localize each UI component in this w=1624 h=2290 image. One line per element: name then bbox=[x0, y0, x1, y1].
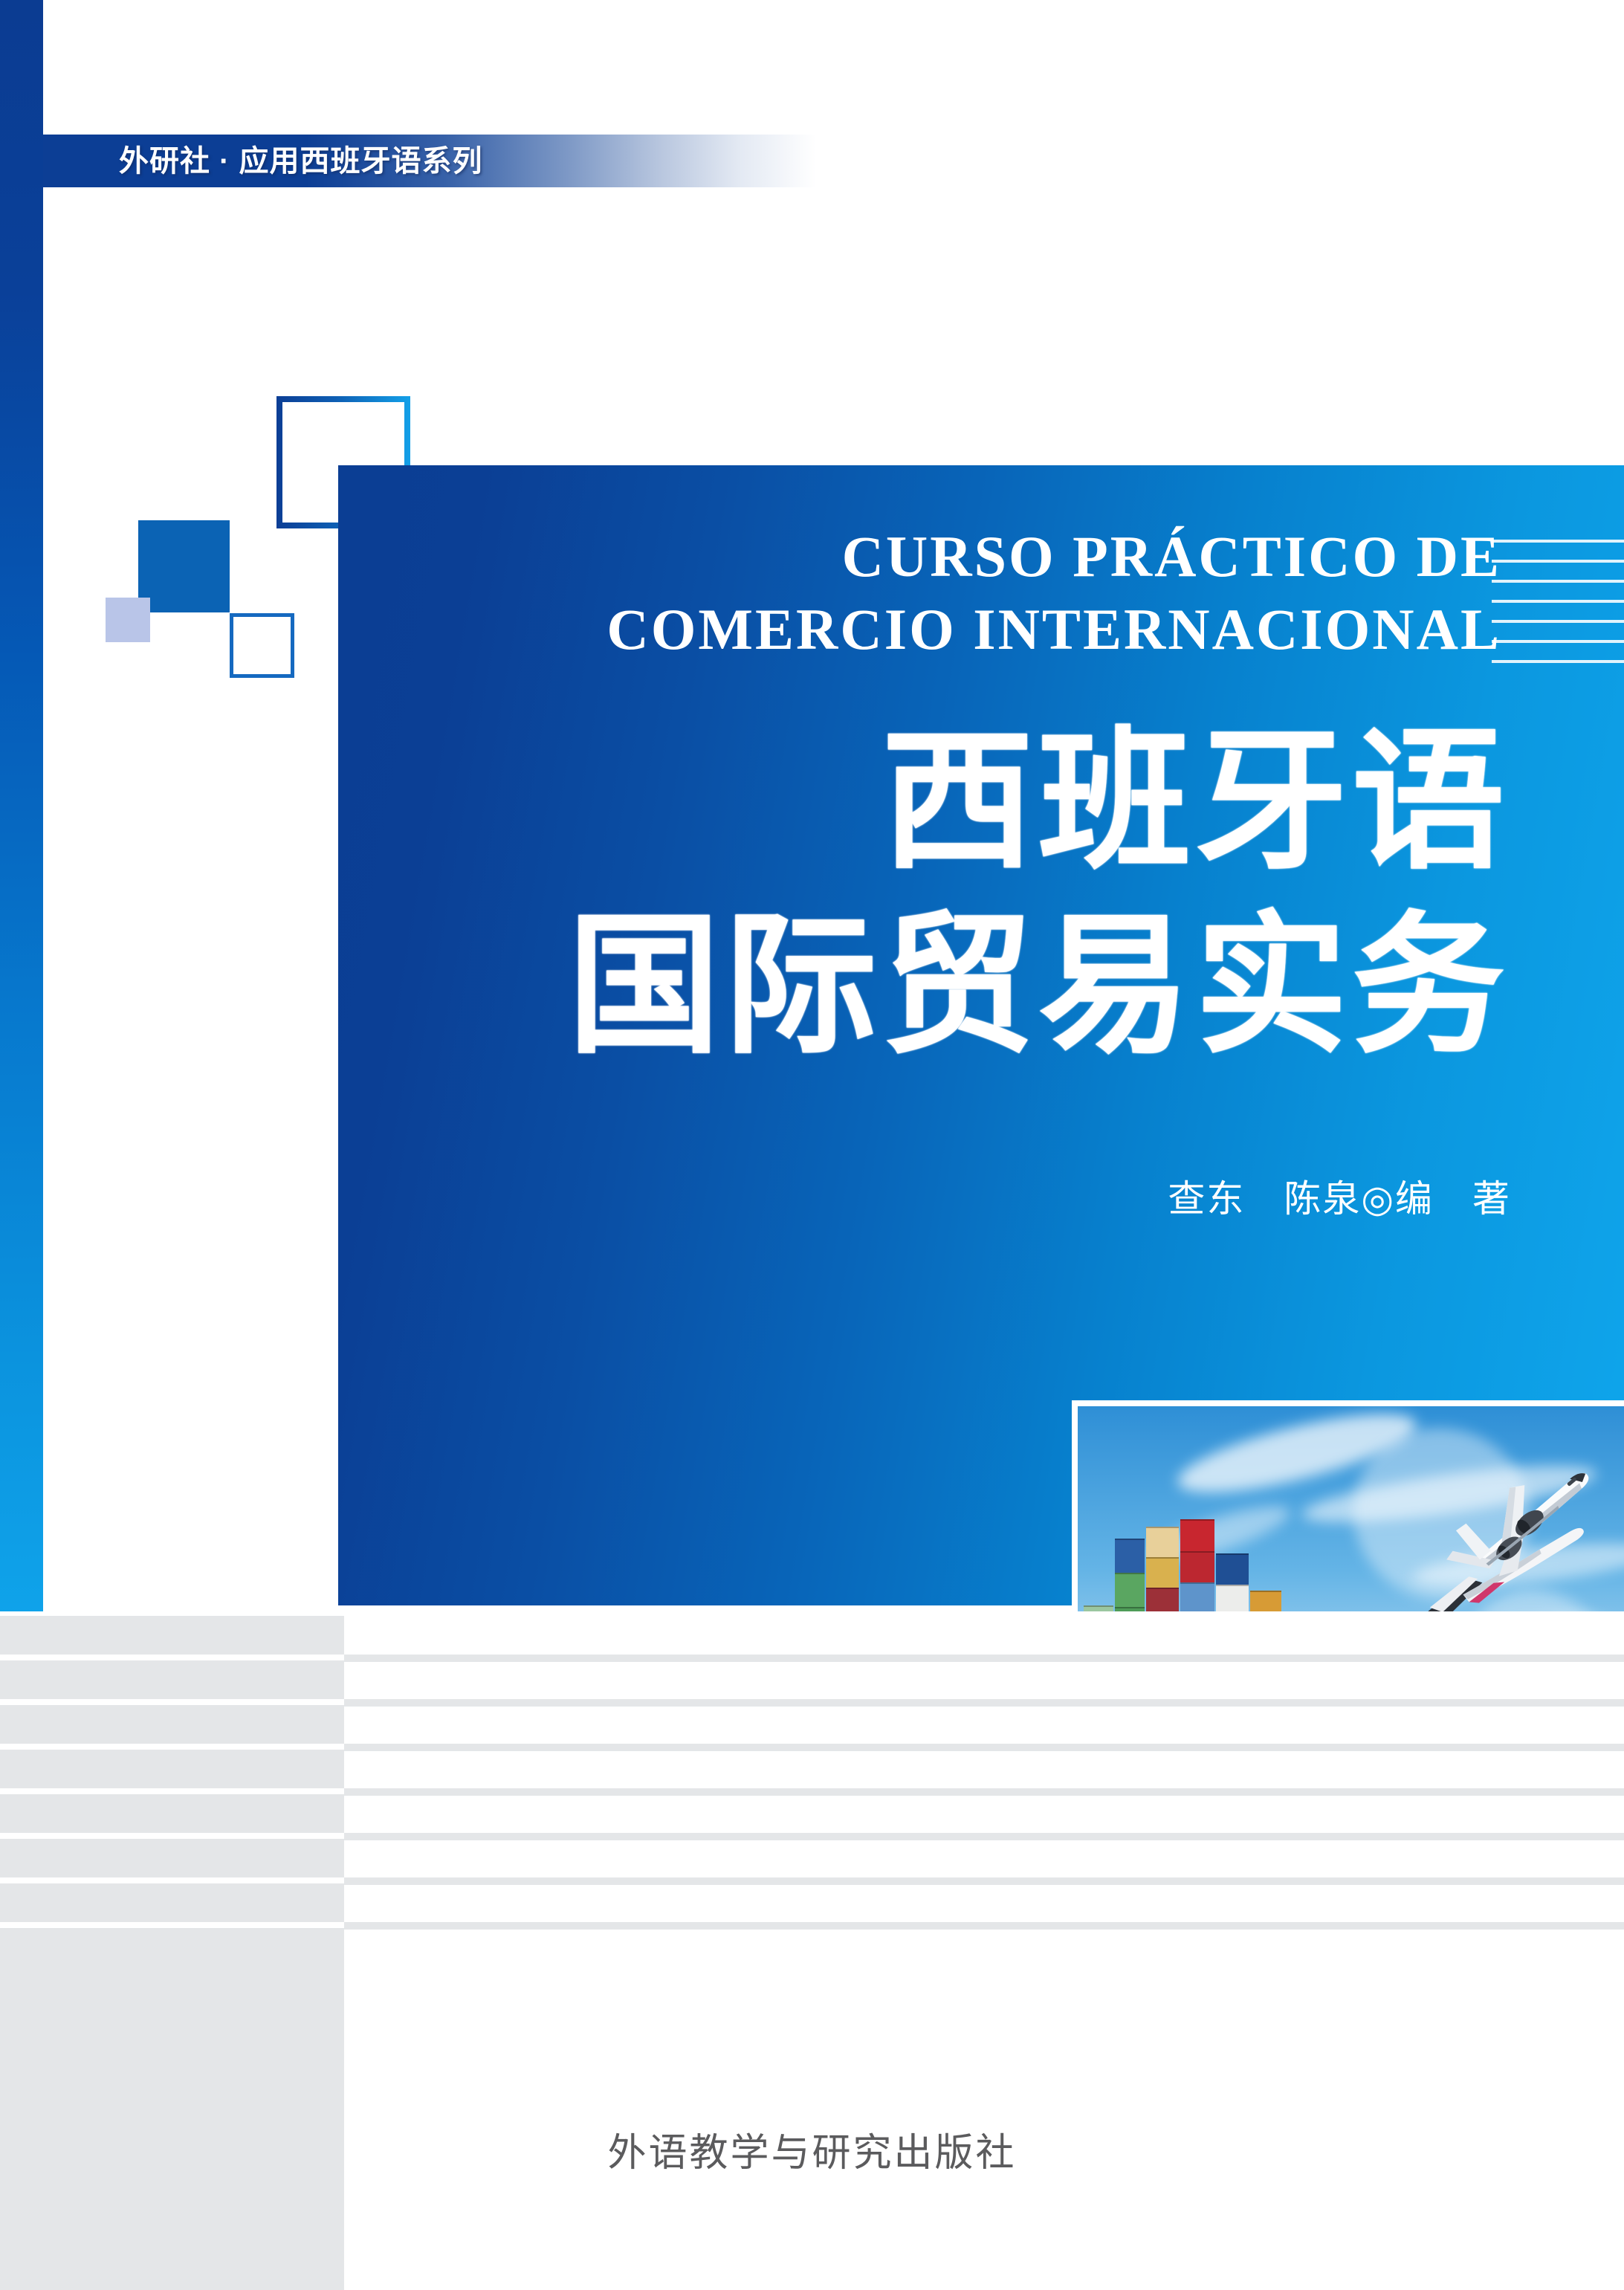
stripe-bar bbox=[0, 1839, 344, 1877]
rule-line bbox=[1492, 660, 1624, 663]
stripe-group-right bbox=[344, 1611, 1624, 2290]
bottom-stripe-band bbox=[0, 1611, 1624, 2290]
spanish-title: CURSO PRÁCTICO DE COMERCIO INTERNACIONAL bbox=[338, 520, 1501, 666]
author-line: 查东 陈泉◎编 著 bbox=[338, 1173, 1511, 1225]
decor-outline-small-square bbox=[230, 613, 294, 678]
rule-line bbox=[1492, 620, 1624, 623]
main-title-line-2: 国际贸易实务 bbox=[338, 894, 1509, 1078]
stripe-rule bbox=[344, 1922, 1624, 1930]
stripe-rule bbox=[344, 1877, 1624, 1885]
decor-light-small-square bbox=[106, 598, 150, 642]
stripe-rule bbox=[344, 1744, 1624, 1751]
book-cover: 外研社 · 应用西班牙语系列 CURSO PRÁCTICO DE COMERCI… bbox=[0, 0, 1624, 2290]
stripe-group-left bbox=[0, 1611, 344, 2290]
stripe-bar bbox=[0, 1883, 344, 1922]
stripe-bar bbox=[0, 1705, 344, 1744]
rule-line bbox=[1492, 540, 1624, 543]
decor-solid-medium-square bbox=[138, 520, 230, 612]
rule-line bbox=[1492, 580, 1624, 583]
rule-line bbox=[1492, 600, 1624, 603]
left-accent-strip bbox=[0, 0, 43, 1615]
stripe-rule bbox=[344, 1655, 1624, 1662]
stripe-bar bbox=[0, 1616, 344, 1655]
stripe-bar bbox=[0, 1750, 344, 1788]
stripe-bar bbox=[0, 1928, 344, 2290]
main-title: 西班牙语 国际贸易实务 bbox=[338, 710, 1509, 1078]
stripe-bar bbox=[0, 1660, 344, 1699]
publisher-name: 外语教学与研究出版社 bbox=[0, 2121, 1624, 2177]
main-title-line-1: 西班牙语 bbox=[338, 710, 1509, 894]
series-banner-label: 外研社 · 应用西班牙语系列 bbox=[119, 141, 483, 181]
stripe-rule bbox=[344, 1699, 1624, 1707]
stripe-rule bbox=[344, 1833, 1624, 1840]
decor-rule-lines bbox=[1492, 537, 1624, 663]
rule-line bbox=[1492, 640, 1624, 643]
stripe-bar bbox=[0, 1794, 344, 1833]
rule-line bbox=[1492, 560, 1624, 563]
stripe-rule bbox=[344, 1788, 1624, 1796]
spanish-title-line-1: CURSO PRÁCTICO DE bbox=[338, 520, 1501, 593]
spanish-title-line-2: COMERCIO INTERNACIONAL bbox=[338, 593, 1501, 666]
cargo-airplane-icon bbox=[1375, 1472, 1613, 1613]
